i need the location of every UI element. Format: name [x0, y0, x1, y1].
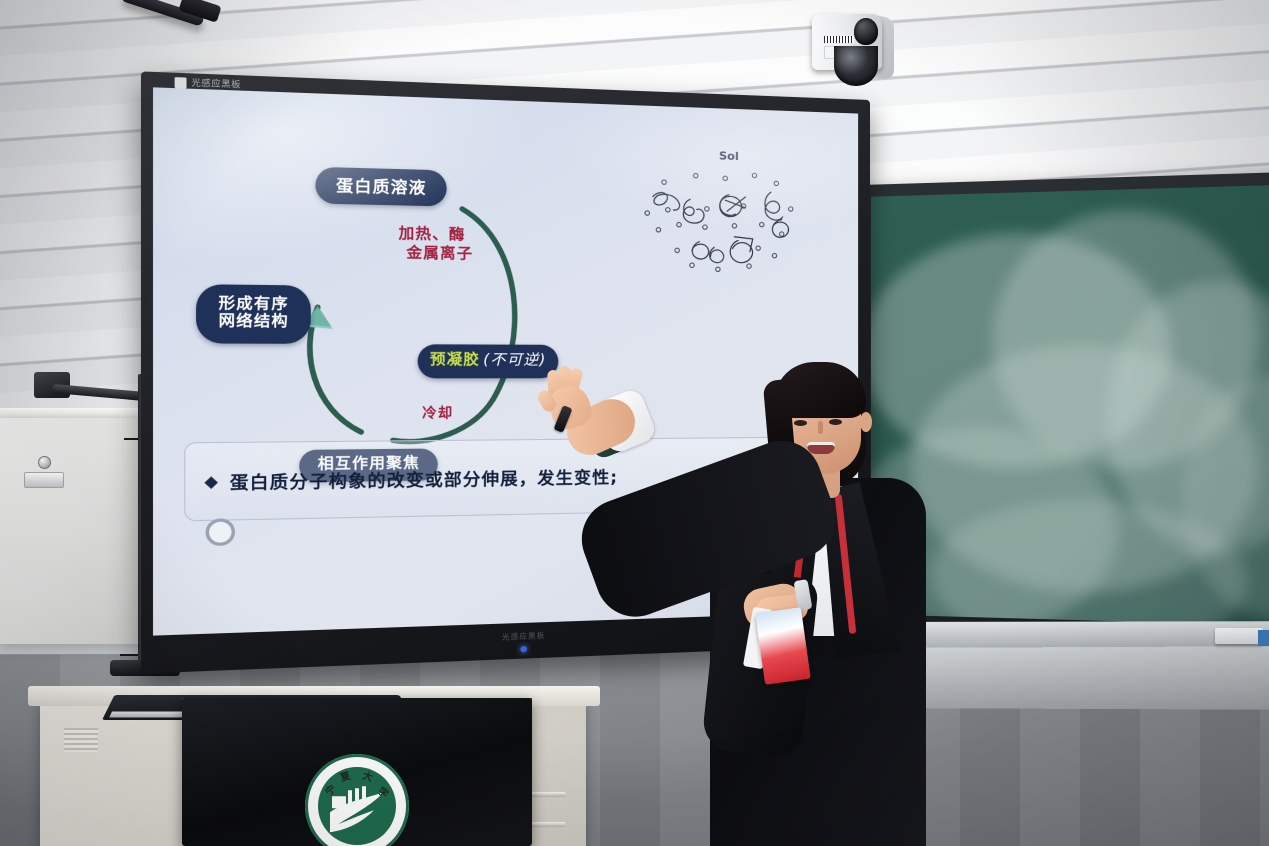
whiteboard-bottom-brand: 光感应黑板	[502, 631, 546, 643]
cabinet-lock-icon[interactable]	[38, 456, 51, 469]
tray-end-cap	[1258, 630, 1269, 646]
emblem-characters: 宁 夏 大 学	[305, 754, 409, 846]
node-pre-gel-suffix: (不可逆)	[483, 353, 546, 370]
dome-camera	[806, 10, 898, 94]
annotation-cooling: 冷却	[404, 406, 471, 424]
blackboard-eraser[interactable]	[1215, 628, 1263, 644]
classroom-scene: 光感应黑板	[0, 0, 1269, 846]
screen-glare-secondary	[558, 87, 859, 234]
cabinet-handle[interactable]	[24, 472, 64, 488]
equipment-cabinet[interactable]	[0, 418, 140, 644]
node-ordered-network-line1: 形成有序	[219, 297, 289, 315]
brand-mark-icon	[175, 77, 187, 88]
camera-lens-icon	[854, 18, 878, 45]
annotation-cooling-label: 冷却	[404, 406, 471, 424]
camera-dome-icon	[834, 46, 878, 86]
presenter-pointing-hand	[538, 366, 598, 428]
camera-barcode	[824, 36, 854, 43]
node-ordered-network-line2: 网络结构	[219, 314, 289, 332]
presenter-ear	[860, 412, 872, 432]
lectern-front-panel: 宁 夏 大 学	[182, 698, 532, 846]
university-emblem: 宁 夏 大 学	[305, 754, 409, 846]
power-led-icon	[520, 646, 527, 653]
node-ordered-network[interactable]: 形成有序 网络结构	[196, 284, 311, 344]
node-pre-gel-label: 预凝胶	[430, 353, 480, 370]
annotation-heating-line2: 金属离子	[386, 244, 493, 265]
bullet-diamond-icon: ◆	[204, 471, 218, 491]
presenter-nose	[818, 421, 823, 434]
presenter-mouth	[807, 442, 835, 454]
lectern-vent	[64, 728, 98, 752]
lectern[interactable]: 宁 夏 大 学	[22, 676, 622, 846]
id-badge[interactable]	[755, 607, 811, 685]
